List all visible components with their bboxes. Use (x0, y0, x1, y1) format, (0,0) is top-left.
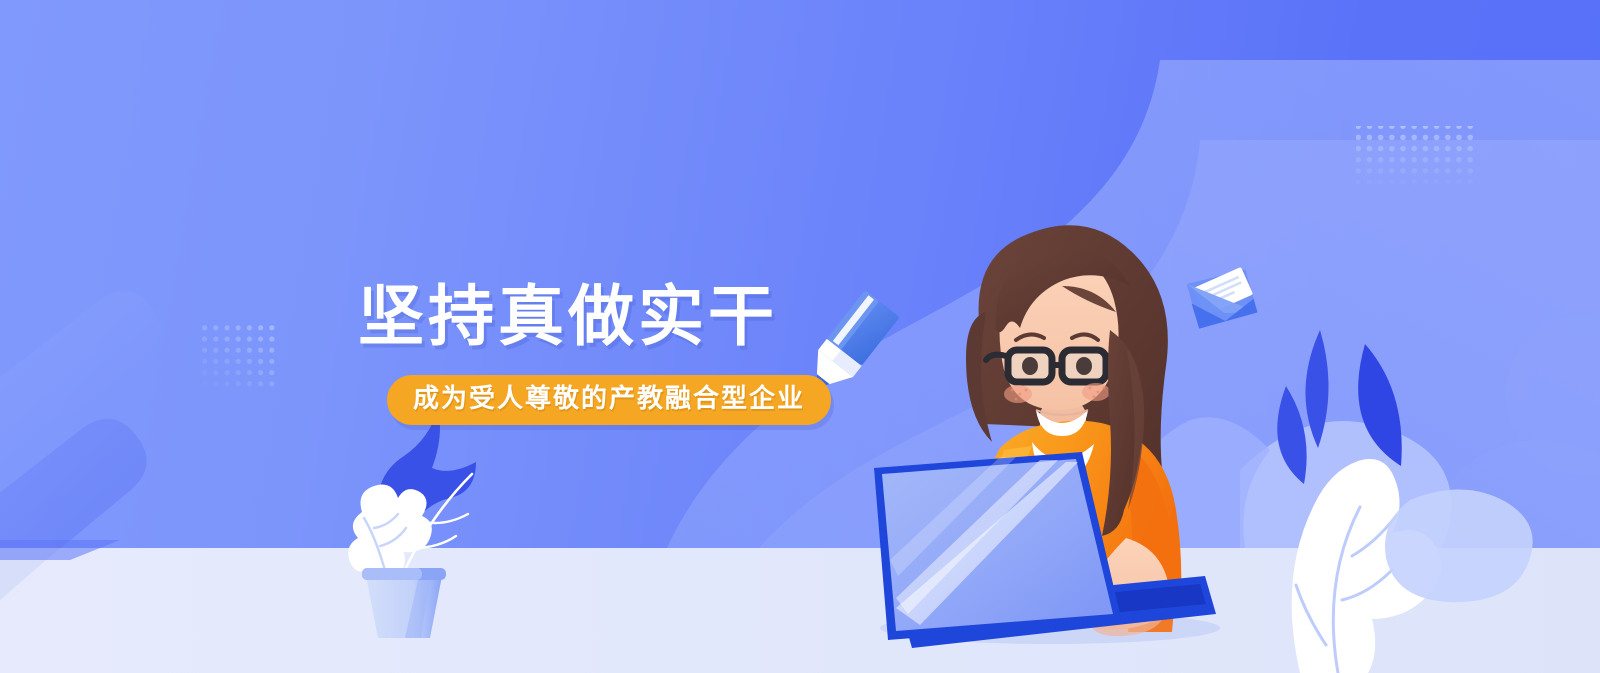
dot-grid-left (196, 320, 278, 390)
page-title: 坚持真做实干 (358, 283, 831, 349)
subtitle-pill: 成为受人尊敬的产教融合型企业 (387, 375, 831, 425)
hero-text-block: 坚持真做实干 成为受人尊敬的产教融合型企业 (358, 283, 831, 425)
hero-banner: 坚持真做实干 成为受人尊敬的产教融合型企业 (0, 0, 1600, 673)
dot-grid-right (1356, 126, 1478, 192)
floor-strip (0, 548, 1600, 673)
subtitle-pill-label: 成为受人尊敬的产教融合型企业 (413, 384, 805, 414)
